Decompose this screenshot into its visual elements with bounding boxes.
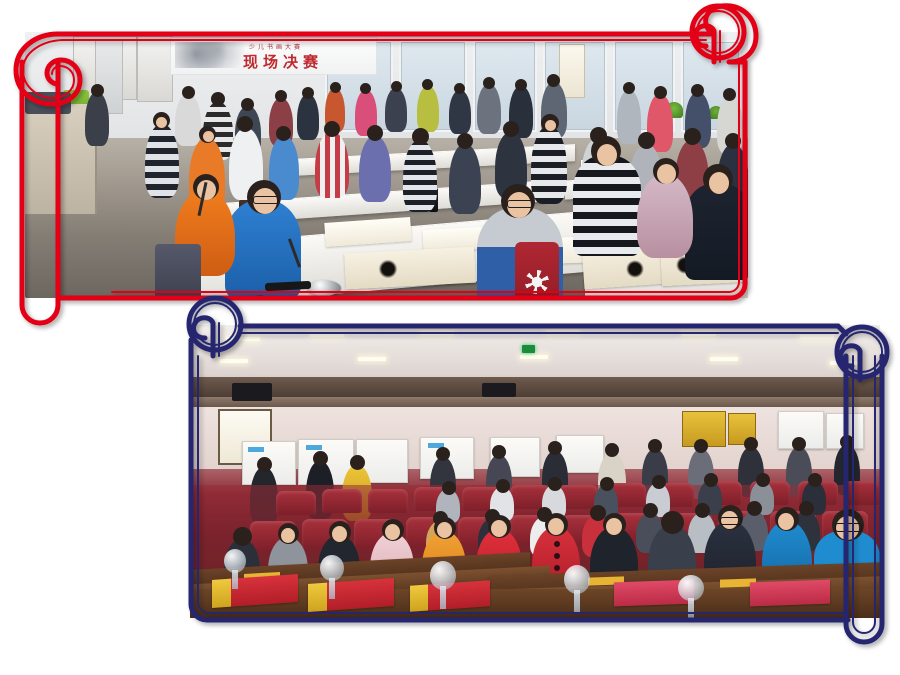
person-face xyxy=(606,518,622,535)
person-head xyxy=(691,84,704,97)
crystal-trophy xyxy=(430,561,456,609)
person-head xyxy=(91,84,104,97)
hall-ink-bowl xyxy=(307,280,341,296)
glasses-icon xyxy=(835,523,862,532)
person-head xyxy=(492,445,506,459)
board-label xyxy=(248,447,264,452)
person xyxy=(315,132,349,198)
person-head xyxy=(330,82,341,93)
person-head xyxy=(747,501,762,516)
coat-buttons xyxy=(554,541,560,547)
person-head xyxy=(643,503,658,518)
vest-snowflake xyxy=(525,270,549,294)
glasses-icon xyxy=(720,517,742,525)
person-head xyxy=(436,447,450,461)
trophy-stem xyxy=(329,578,335,599)
person-head xyxy=(412,128,429,145)
theater-seat xyxy=(276,491,316,515)
person xyxy=(449,144,481,214)
photo1-scene: 少儿书画大赛 现场决赛 xyxy=(25,32,748,298)
person-head xyxy=(623,82,635,94)
person-face xyxy=(281,528,295,543)
person-head xyxy=(302,87,314,99)
person-head xyxy=(422,79,433,90)
collage-canvas: 少儿书画大赛 现场决赛 xyxy=(0,0,900,675)
ceiling-beam xyxy=(190,397,880,407)
person-head xyxy=(695,503,710,518)
person-head xyxy=(241,98,254,111)
ceiling-light xyxy=(830,361,858,365)
crystal-trophy xyxy=(564,565,590,613)
ceiling-light xyxy=(520,355,548,359)
person-head xyxy=(840,435,854,449)
person-face xyxy=(548,518,564,535)
hall-cabinet-left2 xyxy=(137,36,173,102)
trophy-stem xyxy=(688,598,694,618)
ceiling-beam xyxy=(190,377,880,397)
person-head xyxy=(648,439,662,453)
person-head xyxy=(547,74,560,87)
theater-seat xyxy=(322,489,362,513)
person xyxy=(145,124,179,198)
ceiling-light xyxy=(358,357,386,361)
person xyxy=(359,136,391,202)
person-face xyxy=(778,513,794,530)
photo2-scene xyxy=(190,325,880,618)
person-head xyxy=(276,126,291,141)
person-head xyxy=(704,473,718,487)
certificate-gold-trim xyxy=(410,585,428,612)
exit-sign-icon xyxy=(522,345,535,353)
person-head xyxy=(808,473,822,487)
trophy-stem xyxy=(574,590,580,613)
person-face xyxy=(203,131,214,142)
person-head xyxy=(548,477,562,491)
person-foreground-pink xyxy=(637,174,693,258)
person-head xyxy=(442,481,456,495)
banner-line-1: 少儿书画大赛 xyxy=(249,42,303,51)
person-head xyxy=(257,457,272,472)
person xyxy=(449,90,471,134)
person-head xyxy=(661,511,684,534)
person xyxy=(385,88,407,132)
glasses-icon xyxy=(253,196,279,204)
person-head xyxy=(515,79,527,91)
person-head xyxy=(723,88,736,101)
person-face xyxy=(437,522,452,538)
person xyxy=(175,94,201,146)
person-head xyxy=(360,83,371,94)
person-head xyxy=(324,121,340,137)
person-legs xyxy=(155,244,201,298)
person-foreground-right xyxy=(685,184,748,280)
person-head xyxy=(182,86,195,99)
person-head xyxy=(792,437,806,451)
trophy-stem xyxy=(440,586,446,609)
person-head xyxy=(503,121,519,137)
person-head xyxy=(638,132,655,149)
person-head xyxy=(744,437,758,451)
board-label xyxy=(306,445,322,450)
person-head xyxy=(275,90,287,102)
person-head xyxy=(367,125,383,141)
person xyxy=(617,90,641,144)
ceiling-light xyxy=(226,337,260,341)
person xyxy=(403,140,437,212)
ceiling-light xyxy=(310,333,344,337)
hall-counter-2 xyxy=(25,92,71,114)
crystal-trophy xyxy=(320,555,344,599)
trophy-stem xyxy=(232,570,237,589)
person-head xyxy=(548,441,562,455)
theater-seat xyxy=(368,489,408,513)
person-head xyxy=(652,475,666,489)
crystal-trophy xyxy=(224,549,246,589)
person-head xyxy=(457,133,473,149)
ceiling-light xyxy=(546,330,580,334)
hall-kraft-paper xyxy=(344,247,476,290)
person-head xyxy=(684,128,701,145)
calligraphy-stroke xyxy=(625,258,645,280)
hall-banner: 少儿书画大赛 现场决赛 xyxy=(170,37,377,75)
person-head xyxy=(391,81,402,92)
person-face xyxy=(657,164,676,184)
glasses-icon xyxy=(507,200,533,208)
person-head xyxy=(454,83,465,94)
ceiling-light xyxy=(710,357,738,361)
person-head xyxy=(600,477,614,491)
person-head xyxy=(211,92,225,106)
person-head xyxy=(799,501,814,516)
person-head xyxy=(654,86,667,99)
person-head xyxy=(694,439,708,453)
person-face xyxy=(332,526,347,542)
ceiling-light xyxy=(220,359,248,363)
person-face xyxy=(491,520,507,537)
banner-line-2: 现场决赛 xyxy=(243,51,323,72)
person-face xyxy=(545,120,556,131)
certificate-folder xyxy=(750,580,830,607)
person-head xyxy=(725,133,741,149)
theater-seat xyxy=(844,481,880,505)
person-head xyxy=(605,443,619,457)
person xyxy=(417,86,439,132)
person-face xyxy=(385,524,400,540)
crystal-trophy xyxy=(678,575,704,618)
banner-ink-art xyxy=(175,42,245,68)
calligraphy-stroke xyxy=(377,258,399,280)
person-face xyxy=(709,172,729,194)
speaker xyxy=(482,383,516,397)
person-head xyxy=(483,77,495,89)
person xyxy=(531,126,567,204)
person-head xyxy=(350,455,365,470)
photo-calligraphy-hall[interactable]: 少儿书画大赛 现场决赛 xyxy=(25,32,748,298)
person-face xyxy=(597,144,617,166)
person xyxy=(297,94,319,140)
person xyxy=(477,84,501,134)
person-foreground-striped xyxy=(573,156,641,256)
person-head xyxy=(233,527,252,546)
ceiling-light xyxy=(420,331,454,335)
person xyxy=(85,92,109,146)
speaker xyxy=(232,383,272,401)
person-head xyxy=(496,479,510,493)
person-head xyxy=(313,451,328,466)
ceiling-light xyxy=(682,332,716,336)
ceiling-light xyxy=(800,335,834,339)
person-face xyxy=(156,117,167,128)
photo-auditorium-audience[interactable] xyxy=(190,325,880,618)
person-head xyxy=(237,116,253,132)
person-head xyxy=(756,473,770,487)
